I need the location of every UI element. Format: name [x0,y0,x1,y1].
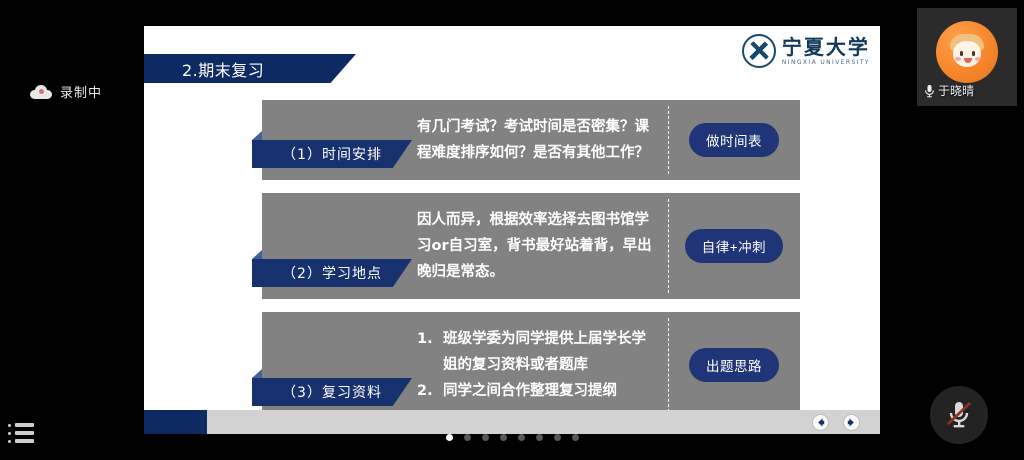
university-logo: 宁夏大学 NINGXIA UNIVERSITY [742,34,870,68]
avatar [936,21,998,83]
arrow-right-icon [846,417,857,428]
participant-name: 于晓晴 [938,82,974,99]
prev-slide-button[interactable] [812,414,829,431]
slide-toolbar [207,410,880,434]
tag-fold [252,131,262,140]
pagination-dot[interactable] [518,434,525,441]
row-tag: （2）学习地点 [252,259,412,287]
next-slide-button[interactable] [843,414,860,431]
mic-icon [924,84,935,98]
logo-name-cn: 宁夏大学 [782,37,870,57]
pagination-dot[interactable] [446,434,453,441]
slide-title: 2.期末复习 [144,57,264,81]
university-emblem-icon [742,34,776,68]
tag-fold [252,250,262,259]
tag-fold [252,369,262,378]
row-tag: （1）时间安排 [252,140,412,168]
slide-title-banner: 2.期末复习 [144,54,356,83]
row-ordered-list: 班级学委为同学提供上届学长学姐的复习资料或者题库 同学之间合作整理复习提纲 [417,326,660,404]
participant-video-tile[interactable]: 于晓晴 [917,8,1017,106]
list-item: 同学之间合作整理复习提纲 [417,378,660,404]
presentation-slide: 2.期末复习 宁夏大学 NINGXIA UNIVERSITY 有几门考试？考试时… [144,26,880,434]
pagination-dot[interactable] [482,434,489,441]
content-row: 班级学委为同学提供上届学长学姐的复习资料或者题库 同学之间合作整理复习提纲 （3… [262,312,800,418]
row-divider [668,106,669,174]
row-divider [668,199,669,293]
arrow-left-icon [815,417,826,428]
recording-indicator: 录制中 [30,82,102,101]
mic-muted-icon [944,399,974,431]
pagination-dot[interactable] [500,434,507,441]
cloud-record-icon [30,85,52,99]
recording-label: 录制中 [60,82,102,101]
screen-root: 录制中 [0,0,1024,460]
participant-name-badge: 于晓晴 [924,82,974,99]
row-text: 因人而异，根据效率选择去图书馆学习or自习室，背书最好站着背，早出晚归是常态。 [417,193,668,299]
slide-footer-accent [144,410,207,434]
pagination-dot[interactable] [464,434,471,441]
row-text-list: 班级学委为同学提供上届学长学姐的复习资料或者题库 同学之间合作整理复习提纲 [417,312,668,418]
pagination-dot[interactable] [572,434,579,441]
logo-name-en: NINGXIA UNIVERSITY [782,60,870,66]
row-pill-button[interactable]: 自律+冲刺 [685,229,783,263]
content-row: 有几门考试？考试时间是否密集？课程难度排序如何？是否有其他工作？ （1）时间安排… [262,100,800,180]
list-item: 班级学委为同学提供上届学长学姐的复习资料或者题库 [417,326,660,378]
row-pill-button[interactable]: 做时间表 [689,123,779,157]
content-row: 因人而异，根据效率选择去图书馆学习or自习室，背书最好站着背，早出晚归是常态。 … [262,193,800,299]
pagination-dot[interactable] [554,434,561,441]
row-pill-button[interactable]: 出题思路 [689,348,779,382]
pagination-dot[interactable] [536,434,543,441]
row-text: 有几门考试？考试时间是否密集？课程难度排序如何？是否有其他工作？ [417,100,668,180]
slide-pagination-dots[interactable] [0,434,1024,441]
content-rows: 有几门考试？考试时间是否密集？课程难度排序如何？是否有其他工作？ （1）时间安排… [262,100,800,431]
row-divider [668,318,669,412]
row-tag: （3）复习资料 [252,378,412,406]
